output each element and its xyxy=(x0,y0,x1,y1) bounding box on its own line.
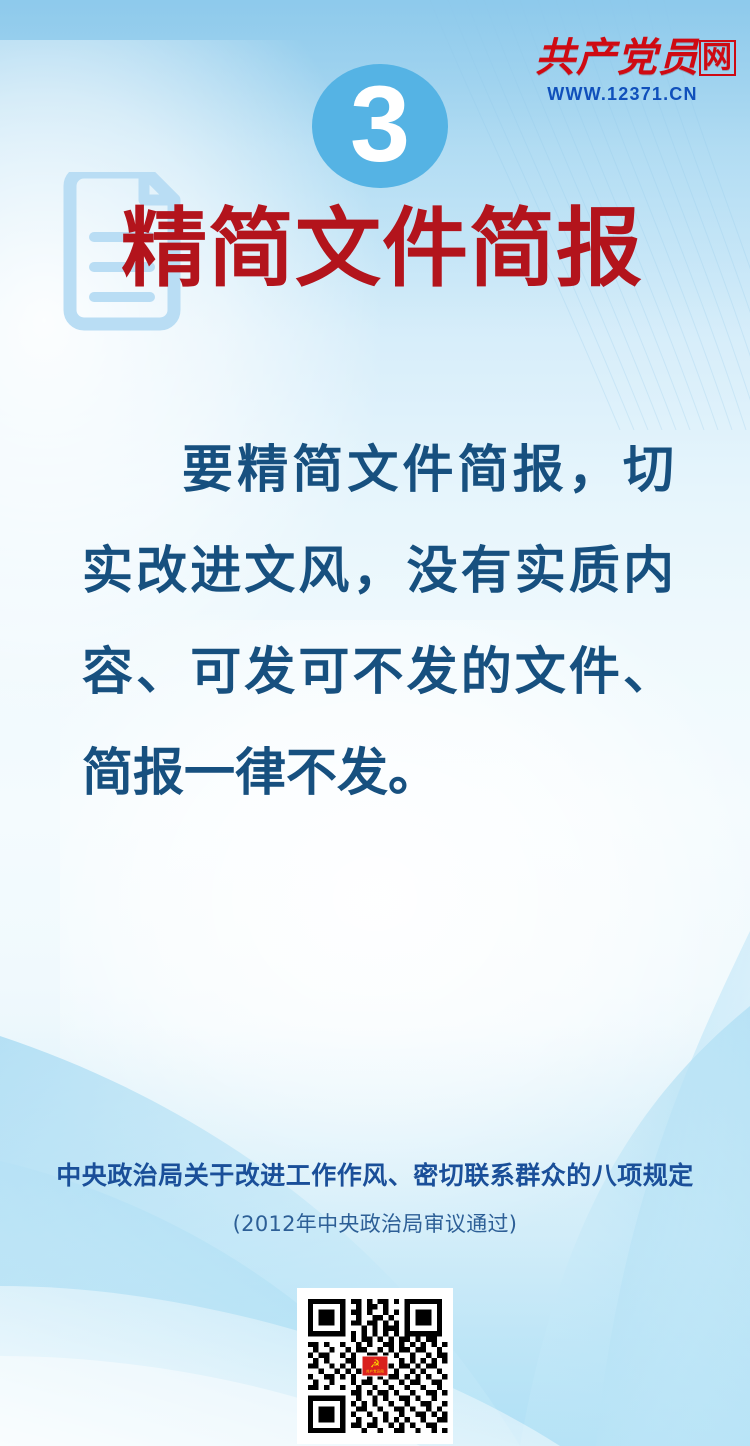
body-paragraph: 要精简文件简报，切实改进文风，没有实质内容、可发可不发的文件、简报一律不发。 xyxy=(82,420,674,824)
logo-wordmark: 共产党员网 xyxy=(535,38,710,78)
site-logo[interactable]: 共产党员网 WWW.12371.CN xyxy=(535,38,710,103)
section-number: 3 xyxy=(350,70,410,178)
party-emblem-label: 共产党员网 xyxy=(366,1369,384,1373)
footer-regulation-date: (2012年中央政治局审议通过) xyxy=(0,1208,750,1238)
logo-wordmark-boxed: 网 xyxy=(699,40,736,76)
footer-regulation-title: 中央政治局关于改进工作作风、密切联系群众的八项规定 xyxy=(0,1156,750,1192)
hammer-sickle-icon: ☭ xyxy=(370,1359,380,1369)
poster-canvas: 共产党员网 WWW.12371.CN 3 精简文件简报 要精简文件简报，切实改进… xyxy=(0,0,750,1446)
logo-url: WWW.12371.CN xyxy=(535,85,710,103)
page-title: 精简文件简报 xyxy=(0,204,750,295)
logo-wordmark-cursive: 共产党员 xyxy=(535,35,699,80)
qr-code[interactable]: ☭ 共产党员网 xyxy=(297,1288,453,1444)
party-emblem-badge: ☭ 共产党员网 xyxy=(362,1356,389,1377)
section-number-badge: 3 xyxy=(312,64,448,188)
